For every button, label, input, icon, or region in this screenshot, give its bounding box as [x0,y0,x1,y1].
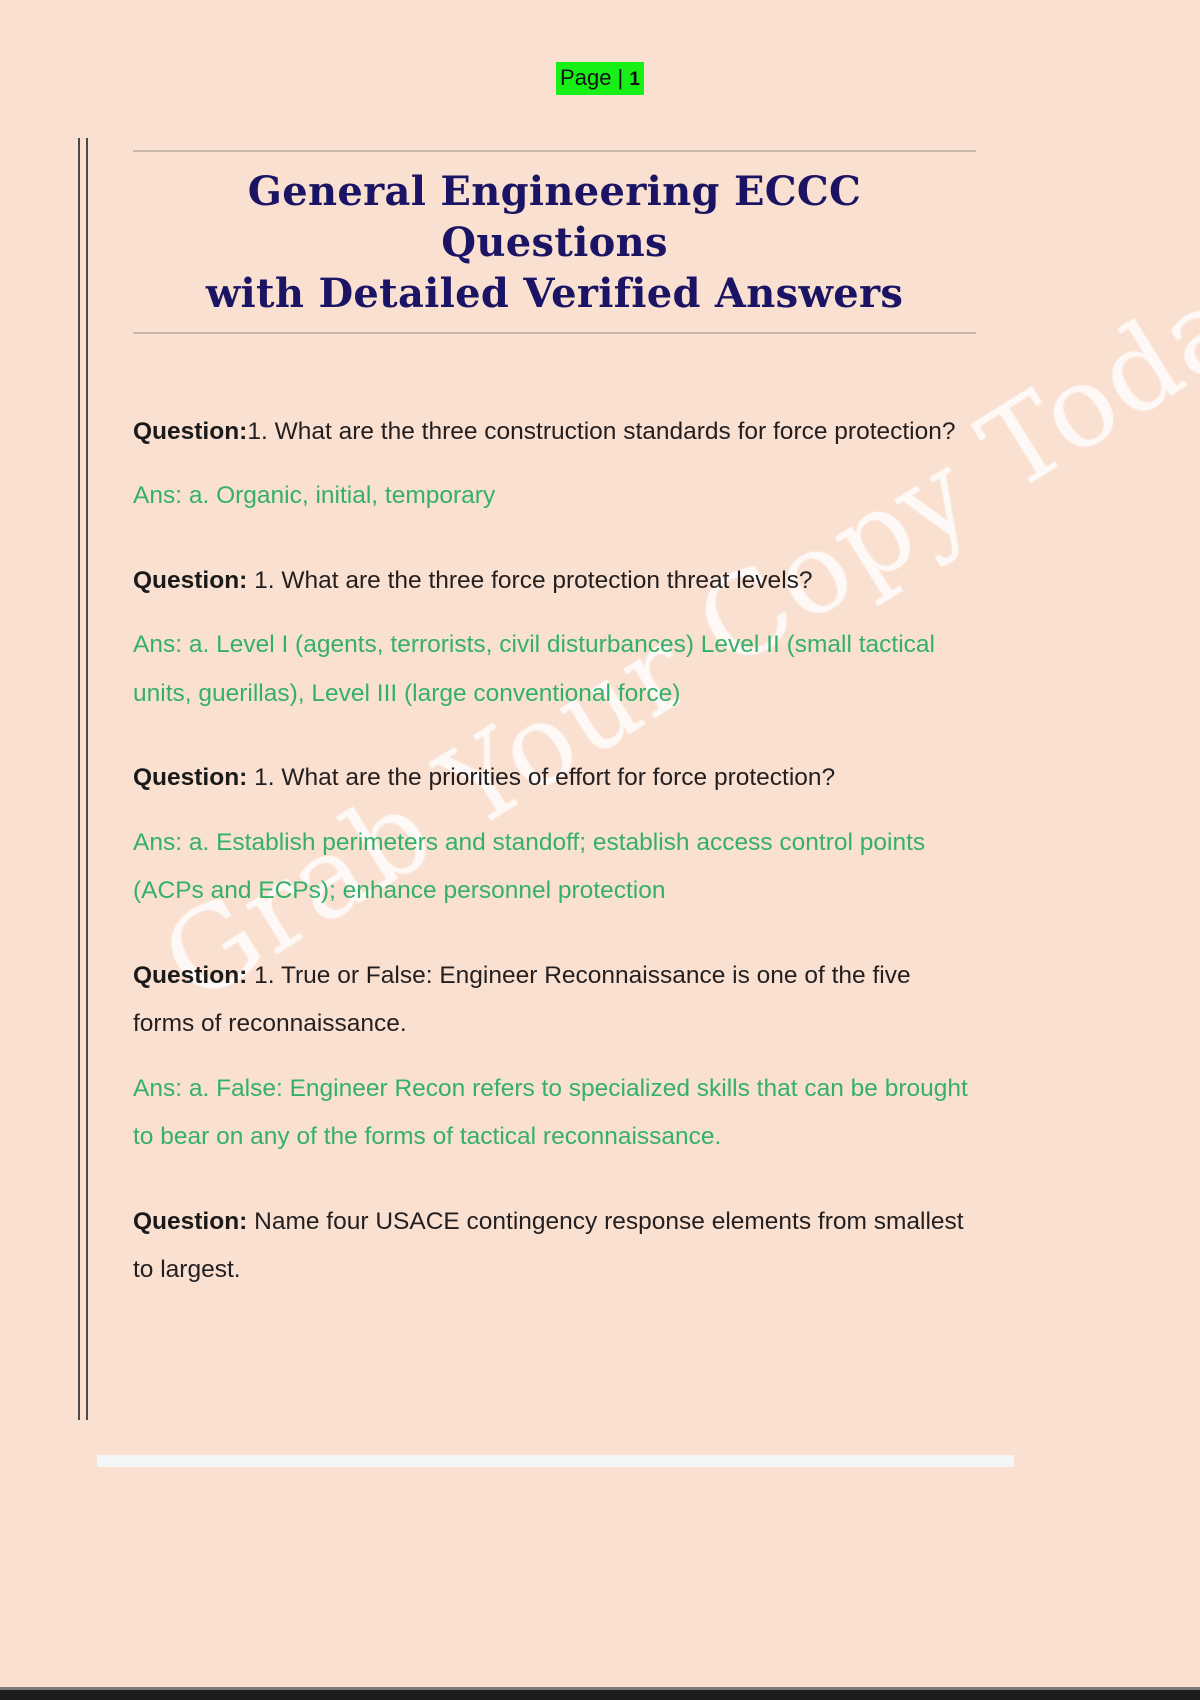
question-label: Question: [133,567,247,594]
question-text: Question: Name four USACE contingency re… [133,1198,976,1295]
page-number-value: 1 [629,69,640,90]
question-body: 1. True or False: Engineer Reconnaissanc… [133,962,911,1038]
answer-text: Ans: a. Establish perimeters and standof… [133,819,976,916]
question-text: Question:1. What are the three construct… [133,408,976,457]
document-page: Grab Your Copy Today Page | 1 General En… [0,0,1200,1700]
page-title-line-2: with Detailed Verified Answers [206,270,903,317]
qa-item: Question: 1. What are the three force pr… [133,557,976,719]
document-content: General Engineering ECCC Questions with … [133,150,976,1295]
question-label: Question: [133,418,247,445]
qa-list: Question:1. What are the three construct… [133,408,976,1295]
question-label: Question: [133,1208,247,1235]
question-text: Question: 1. What are the three force pr… [133,557,976,606]
answer-text: Ans: a. Level I (agents, terrorists, civ… [133,621,976,718]
title-block: General Engineering ECCC Questions with … [133,150,976,334]
question-body: 1. What are the priorities of effort for… [247,764,835,791]
question-body: 1. What are the three force protection t… [247,567,812,594]
question-body: 1. What are the three construction stand… [247,418,955,445]
qa-item: Question: 1. True or False: Engineer Rec… [133,952,976,1162]
page-label: Page | [560,65,629,90]
page-title: General Engineering ECCC Questions with … [133,166,976,320]
question-text: Question: 1. True or False: Engineer Rec… [133,952,976,1049]
page-title-line-1: General Engineering ECCC Questions [248,168,861,266]
answer-text: Ans: a. Organic, initial, temporary [133,472,976,521]
bottom-separator-bar [97,1455,1014,1467]
question-text: Question: 1. What are the priorities of … [133,754,976,803]
page-number-header: Page | 1 [0,62,1200,95]
question-label: Question: [133,962,247,989]
qa-item: Question: 1. What are the priorities of … [133,754,976,916]
question-label: Question: [133,764,247,791]
qa-item: Question:1. What are the three construct… [133,408,976,521]
qa-item: Question: Name four USACE contingency re… [133,1198,976,1295]
question-body: Name four USACE contingency response ele… [133,1208,964,1284]
answer-text: Ans: a. False: Engineer Recon refers to … [133,1065,976,1162]
bottom-strip [0,1690,1200,1700]
page-number-badge: Page | 1 [556,62,644,95]
left-vertical-border [78,138,88,1420]
